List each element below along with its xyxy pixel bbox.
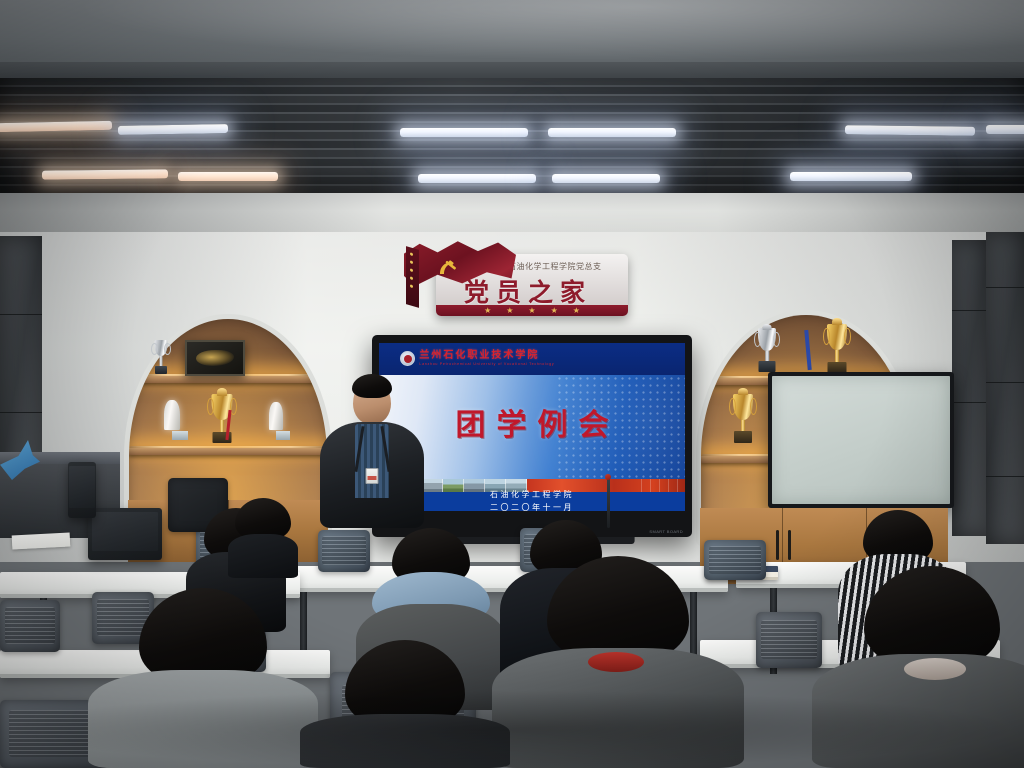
- ceiling-light-tube: [790, 172, 912, 181]
- sign-star: ★: [484, 307, 491, 315]
- audience-member: [228, 498, 298, 578]
- ceiling-light-tube: [42, 169, 168, 179]
- whiteboard[interactable]: [768, 372, 954, 508]
- sign-star: ★: [551, 307, 558, 315]
- sign-star: ★: [573, 307, 580, 315]
- sign-main-text: 党员之家: [464, 273, 592, 309]
- crystal-award-left: [172, 400, 188, 440]
- display-brand-label: SMART BOARD: [649, 529, 683, 534]
- trophy-gold-shelf-right: [730, 388, 756, 443]
- ceiling-wall-transition: [0, 193, 1024, 237]
- trophy-gold-center-left: [208, 388, 236, 443]
- inner-collar: [588, 652, 644, 672]
- ceiling-light-tube: [548, 128, 676, 137]
- audience-torso: [228, 534, 298, 578]
- campus-photo: [443, 479, 464, 492]
- presenter: [318, 368, 426, 528]
- ceiling-light-tube: [178, 172, 278, 181]
- sign-star-band: ★ ★ ★ ★ ★: [436, 305, 628, 316]
- wall-pilaster-right-outer: [986, 232, 1024, 544]
- ceiling-light-tube: [418, 174, 536, 183]
- crystal-column-left: [276, 402, 290, 440]
- university-logo-icon: [400, 351, 415, 366]
- slide-date: 二〇二〇年十一月: [490, 502, 574, 511]
- sign-flag-hoist: [406, 246, 419, 308]
- ceiling-light-tube: [400, 128, 528, 137]
- party-members-home-sign: 石油化学工程学院党总支 党员之家 ★ ★ ★ ★ ★: [392, 240, 632, 322]
- trophy-silver-upper-left: [152, 340, 170, 374]
- university-name-block: 兰州石化职业技术学院 Lanzhou Petrochemical Univers…: [419, 351, 554, 366]
- monitor-screen: [92, 512, 159, 550]
- photo-scene: 石油化学工程学院党总支 党员之家 ★ ★ ★ ★ ★: [0, 0, 1024, 768]
- sign-star: ★: [528, 307, 535, 315]
- framed-plaque-left: [185, 340, 245, 376]
- ceiling-light-tube: [552, 174, 660, 183]
- trophy-silver-upper-right: [755, 324, 779, 372]
- ceiling-light-tube: [845, 125, 975, 136]
- trophy-gold-upper-right: [824, 318, 850, 374]
- university-name-en: Lanzhou Petrochemical University of Voca…: [419, 363, 554, 367]
- ceiling-light-tube: [118, 124, 228, 135]
- monitor-screen: [69, 466, 94, 507]
- audience-hair: [864, 566, 1000, 668]
- whiteboard-surface[interactable]: [772, 376, 950, 504]
- id-badge: [366, 468, 379, 484]
- university-name-cn: 兰州石化职业技术学院: [419, 351, 554, 361]
- presenter-hair: [352, 374, 392, 398]
- hammer-sickle-icon: [436, 258, 462, 282]
- control-desk-monitor-side[interactable]: [68, 462, 96, 518]
- ceiling-upper-plane: [0, 0, 1024, 68]
- sign-subtitle: 石油化学工程学院党总支: [508, 261, 602, 272]
- inner-collar: [904, 658, 966, 680]
- cabinet-handle[interactable]: [788, 530, 791, 560]
- chair-empty[interactable]: [0, 600, 60, 652]
- ceiling-light-tube: [986, 125, 1024, 134]
- wall-pilaster-right-inner: [952, 240, 986, 536]
- cabinet-handle[interactable]: [776, 530, 779, 560]
- sign-star: ★: [506, 307, 513, 315]
- campus-photo: [464, 479, 485, 492]
- slide-department: 石油化学工程学院: [490, 489, 574, 500]
- audience-hair: [547, 556, 689, 662]
- control-desk-monitor[interactable]: [88, 508, 162, 560]
- scene-shadow: [0, 690, 1024, 768]
